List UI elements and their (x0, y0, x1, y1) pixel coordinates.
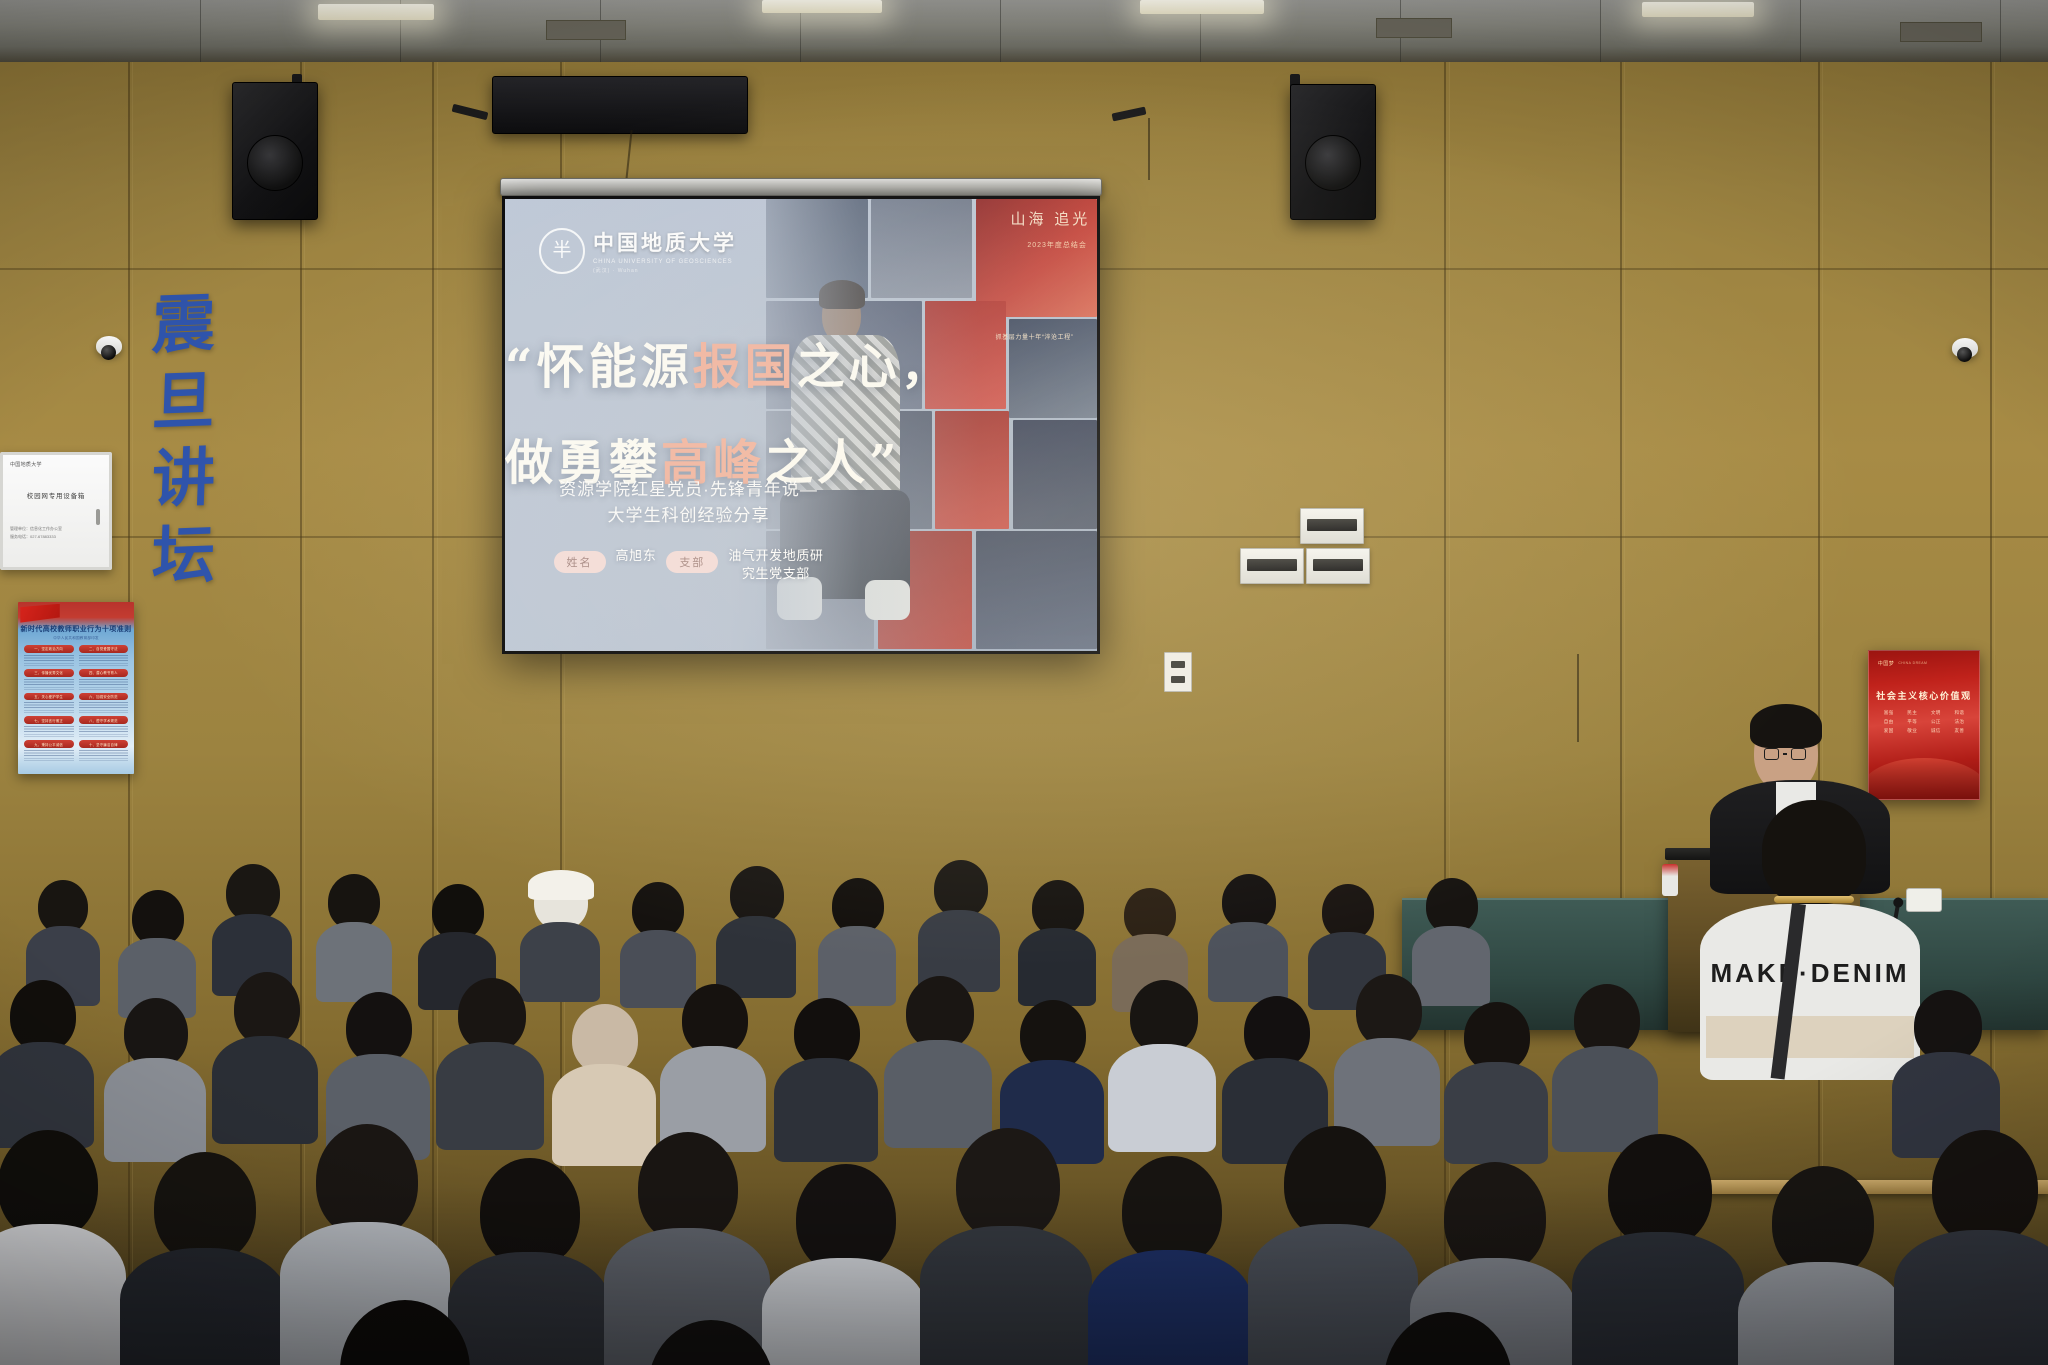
photo-vignette (0, 0, 2048, 1365)
lecture-hall-photo: 震 旦 讲 坛 中国地质大学 校园网专用设备箱 管理单位：信息化工作办公室 服务… (0, 0, 2048, 1365)
